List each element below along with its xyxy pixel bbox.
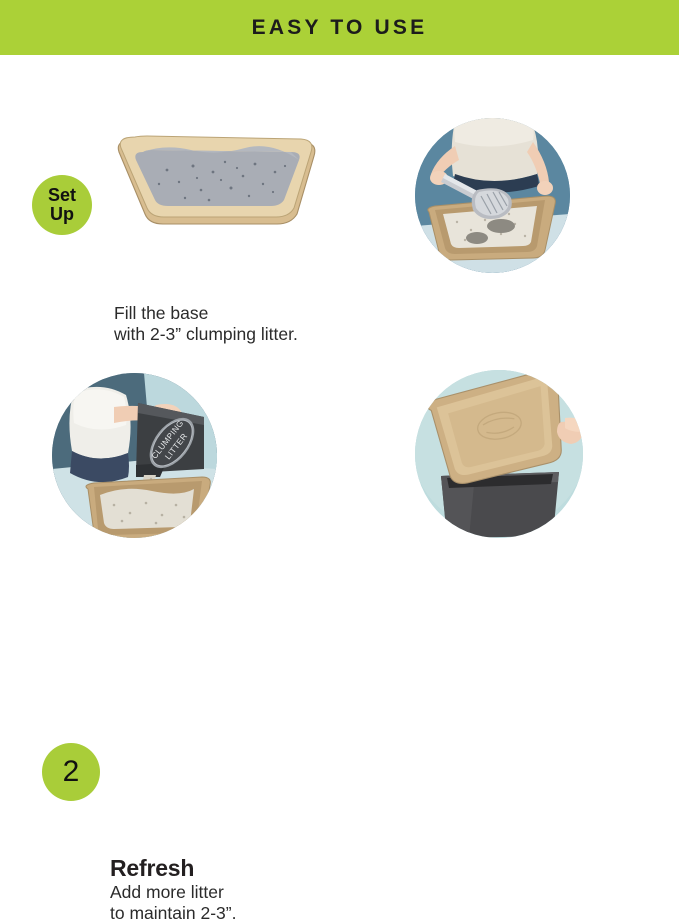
caption-refresh-line2: to maintain 2-3”. [110, 903, 236, 924]
badge-set-up-line2: Up [50, 205, 74, 224]
step-refresh: 2 [10, 360, 340, 628]
caption-refresh-line1: Add more litter [110, 882, 236, 903]
badge-set-up-line1: Set [48, 186, 76, 205]
photo-tray-into-trash-bin [415, 370, 583, 538]
caption-refresh-heading: Refresh [110, 855, 236, 881]
caption-set-up-line2: with 2-3” clumping litter. [114, 324, 298, 345]
photo-person-pouring-litter: CLUMPING LITTER [52, 373, 217, 538]
caption-set-up: Fill the base with 2-3” clumping litter. [114, 303, 298, 345]
photo-person-scooping-litter [415, 118, 570, 273]
header-banner: EASY TO USE [0, 0, 679, 55]
caption-set-up-line1: Fill the base [114, 303, 298, 324]
steps-grid: Set Up [0, 55, 679, 628]
caption-refresh: Refresh Add more litter to maintain 2-3”… [110, 855, 236, 924]
page-title: EASY TO USE [252, 16, 428, 40]
badge-set-up: Set Up [32, 175, 92, 235]
step-set-up: Set Up [10, 90, 340, 360]
badge-step-2: 2 [42, 743, 100, 801]
litter-tray-filled-illustration [105, 110, 320, 230]
step-clean: 1 [345, 90, 675, 360]
step-dispose: 3 [345, 360, 675, 628]
